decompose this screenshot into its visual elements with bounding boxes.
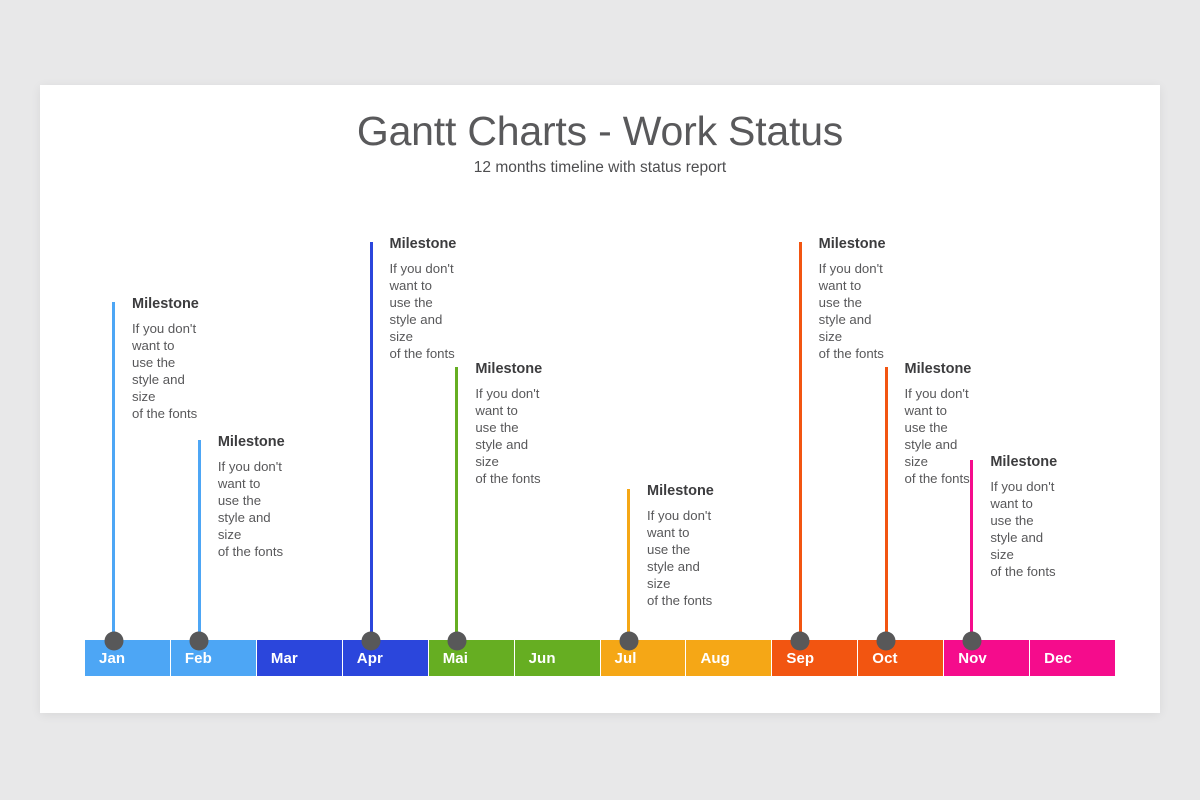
milestone-callout: MilestoneIf you don't want to use the st…: [905, 361, 972, 487]
month-cell-feb[interactable]: Feb: [171, 640, 257, 676]
month-cell-dec[interactable]: Dec: [1030, 640, 1115, 676]
milestone-description: If you don't want to use the style and s…: [819, 260, 886, 362]
milestone-description: If you don't want to use the style and s…: [475, 385, 542, 487]
milestone-title: Milestone: [905, 361, 972, 378]
milestone-callout: MilestoneIf you don't want to use the st…: [647, 483, 714, 609]
slide-card: Gantt Charts - Work Status 12 months tim…: [40, 85, 1160, 713]
milestone-description: If you don't want to use the style and s…: [647, 507, 714, 609]
milestone-dot-sep[interactable]: [791, 632, 810, 651]
milestone-dot-oct[interactable]: [877, 632, 896, 651]
milestone-callout: MilestoneIf you don't want to use the st…: [132, 296, 199, 422]
milestone-dot-mai[interactable]: [447, 632, 466, 651]
month-label: Dec: [1030, 650, 1072, 667]
milestone-title: Milestone: [475, 361, 542, 378]
milestone-dot-jan[interactable]: [104, 632, 123, 651]
milestone-callout: MilestoneIf you don't want to use the st…: [819, 236, 886, 362]
milestone-stem: [112, 302, 115, 640]
milestone-stem: [799, 242, 802, 640]
month-cell-jul[interactable]: Jul: [601, 640, 687, 676]
month-label: Apr: [343, 650, 383, 667]
month-cell-sep[interactable]: Sep: [772, 640, 858, 676]
milestone-dot-feb[interactable]: [190, 632, 209, 651]
milestone-stem: [970, 460, 973, 640]
month-label: Mar: [257, 650, 298, 667]
month-label: Jul: [601, 650, 637, 667]
month-label: Jan: [85, 650, 125, 667]
month-label: Jun: [515, 650, 556, 667]
milestone-callout: MilestoneIf you don't want to use the st…: [990, 454, 1057, 580]
milestone-stem: [370, 242, 373, 640]
milestone-stem: [198, 440, 201, 640]
milestone-dot-nov[interactable]: [962, 632, 981, 651]
month-label: Oct: [858, 650, 897, 667]
milestone-stem: [885, 367, 888, 640]
month-cell-jan[interactable]: Jan: [85, 640, 171, 676]
timeline-month-bar: JanFebMarAprMaiJunJulAugSepOctNovDec: [85, 640, 1115, 676]
milestone-title: Milestone: [218, 434, 285, 451]
milestone-title: Milestone: [132, 296, 199, 313]
milestone-description: If you don't want to use the style and s…: [218, 458, 285, 560]
month-cell-jun[interactable]: Jun: [515, 640, 601, 676]
milestone-dot-jul[interactable]: [619, 632, 638, 651]
month-cell-mai[interactable]: Mai: [429, 640, 515, 676]
milestone-title: Milestone: [390, 236, 457, 253]
milestone-callout: MilestoneIf you don't want to use the st…: [475, 361, 542, 487]
month-label: Sep: [772, 650, 814, 667]
milestone-title: Milestone: [647, 483, 714, 500]
month-cell-mar[interactable]: Mar: [257, 640, 343, 676]
milestone-title: Milestone: [819, 236, 886, 253]
milestone-description: If you don't want to use the style and s…: [132, 320, 199, 422]
month-cell-oct[interactable]: Oct: [858, 640, 944, 676]
milestone-title: Milestone: [990, 454, 1057, 471]
month-cell-nov[interactable]: Nov: [944, 640, 1030, 676]
month-cell-aug[interactable]: Aug: [686, 640, 772, 676]
month-cell-apr[interactable]: Apr: [343, 640, 429, 676]
milestone-layer: MilestoneIf you don't want to use the st…: [40, 85, 1160, 713]
milestone-description: If you don't want to use the style and s…: [990, 478, 1057, 580]
milestone-description: If you don't want to use the style and s…: [390, 260, 457, 362]
milestone-description: If you don't want to use the style and s…: [905, 385, 972, 487]
milestone-callout: MilestoneIf you don't want to use the st…: [390, 236, 457, 362]
milestone-stem: [627, 489, 630, 640]
milestone-stem: [455, 367, 458, 640]
month-label: Aug: [686, 650, 729, 667]
milestone-callout: MilestoneIf you don't want to use the st…: [218, 434, 285, 560]
milestone-dot-apr[interactable]: [362, 632, 381, 651]
month-label: Mai: [429, 650, 468, 667]
month-label: Nov: [944, 650, 987, 667]
month-label: Feb: [171, 650, 212, 667]
